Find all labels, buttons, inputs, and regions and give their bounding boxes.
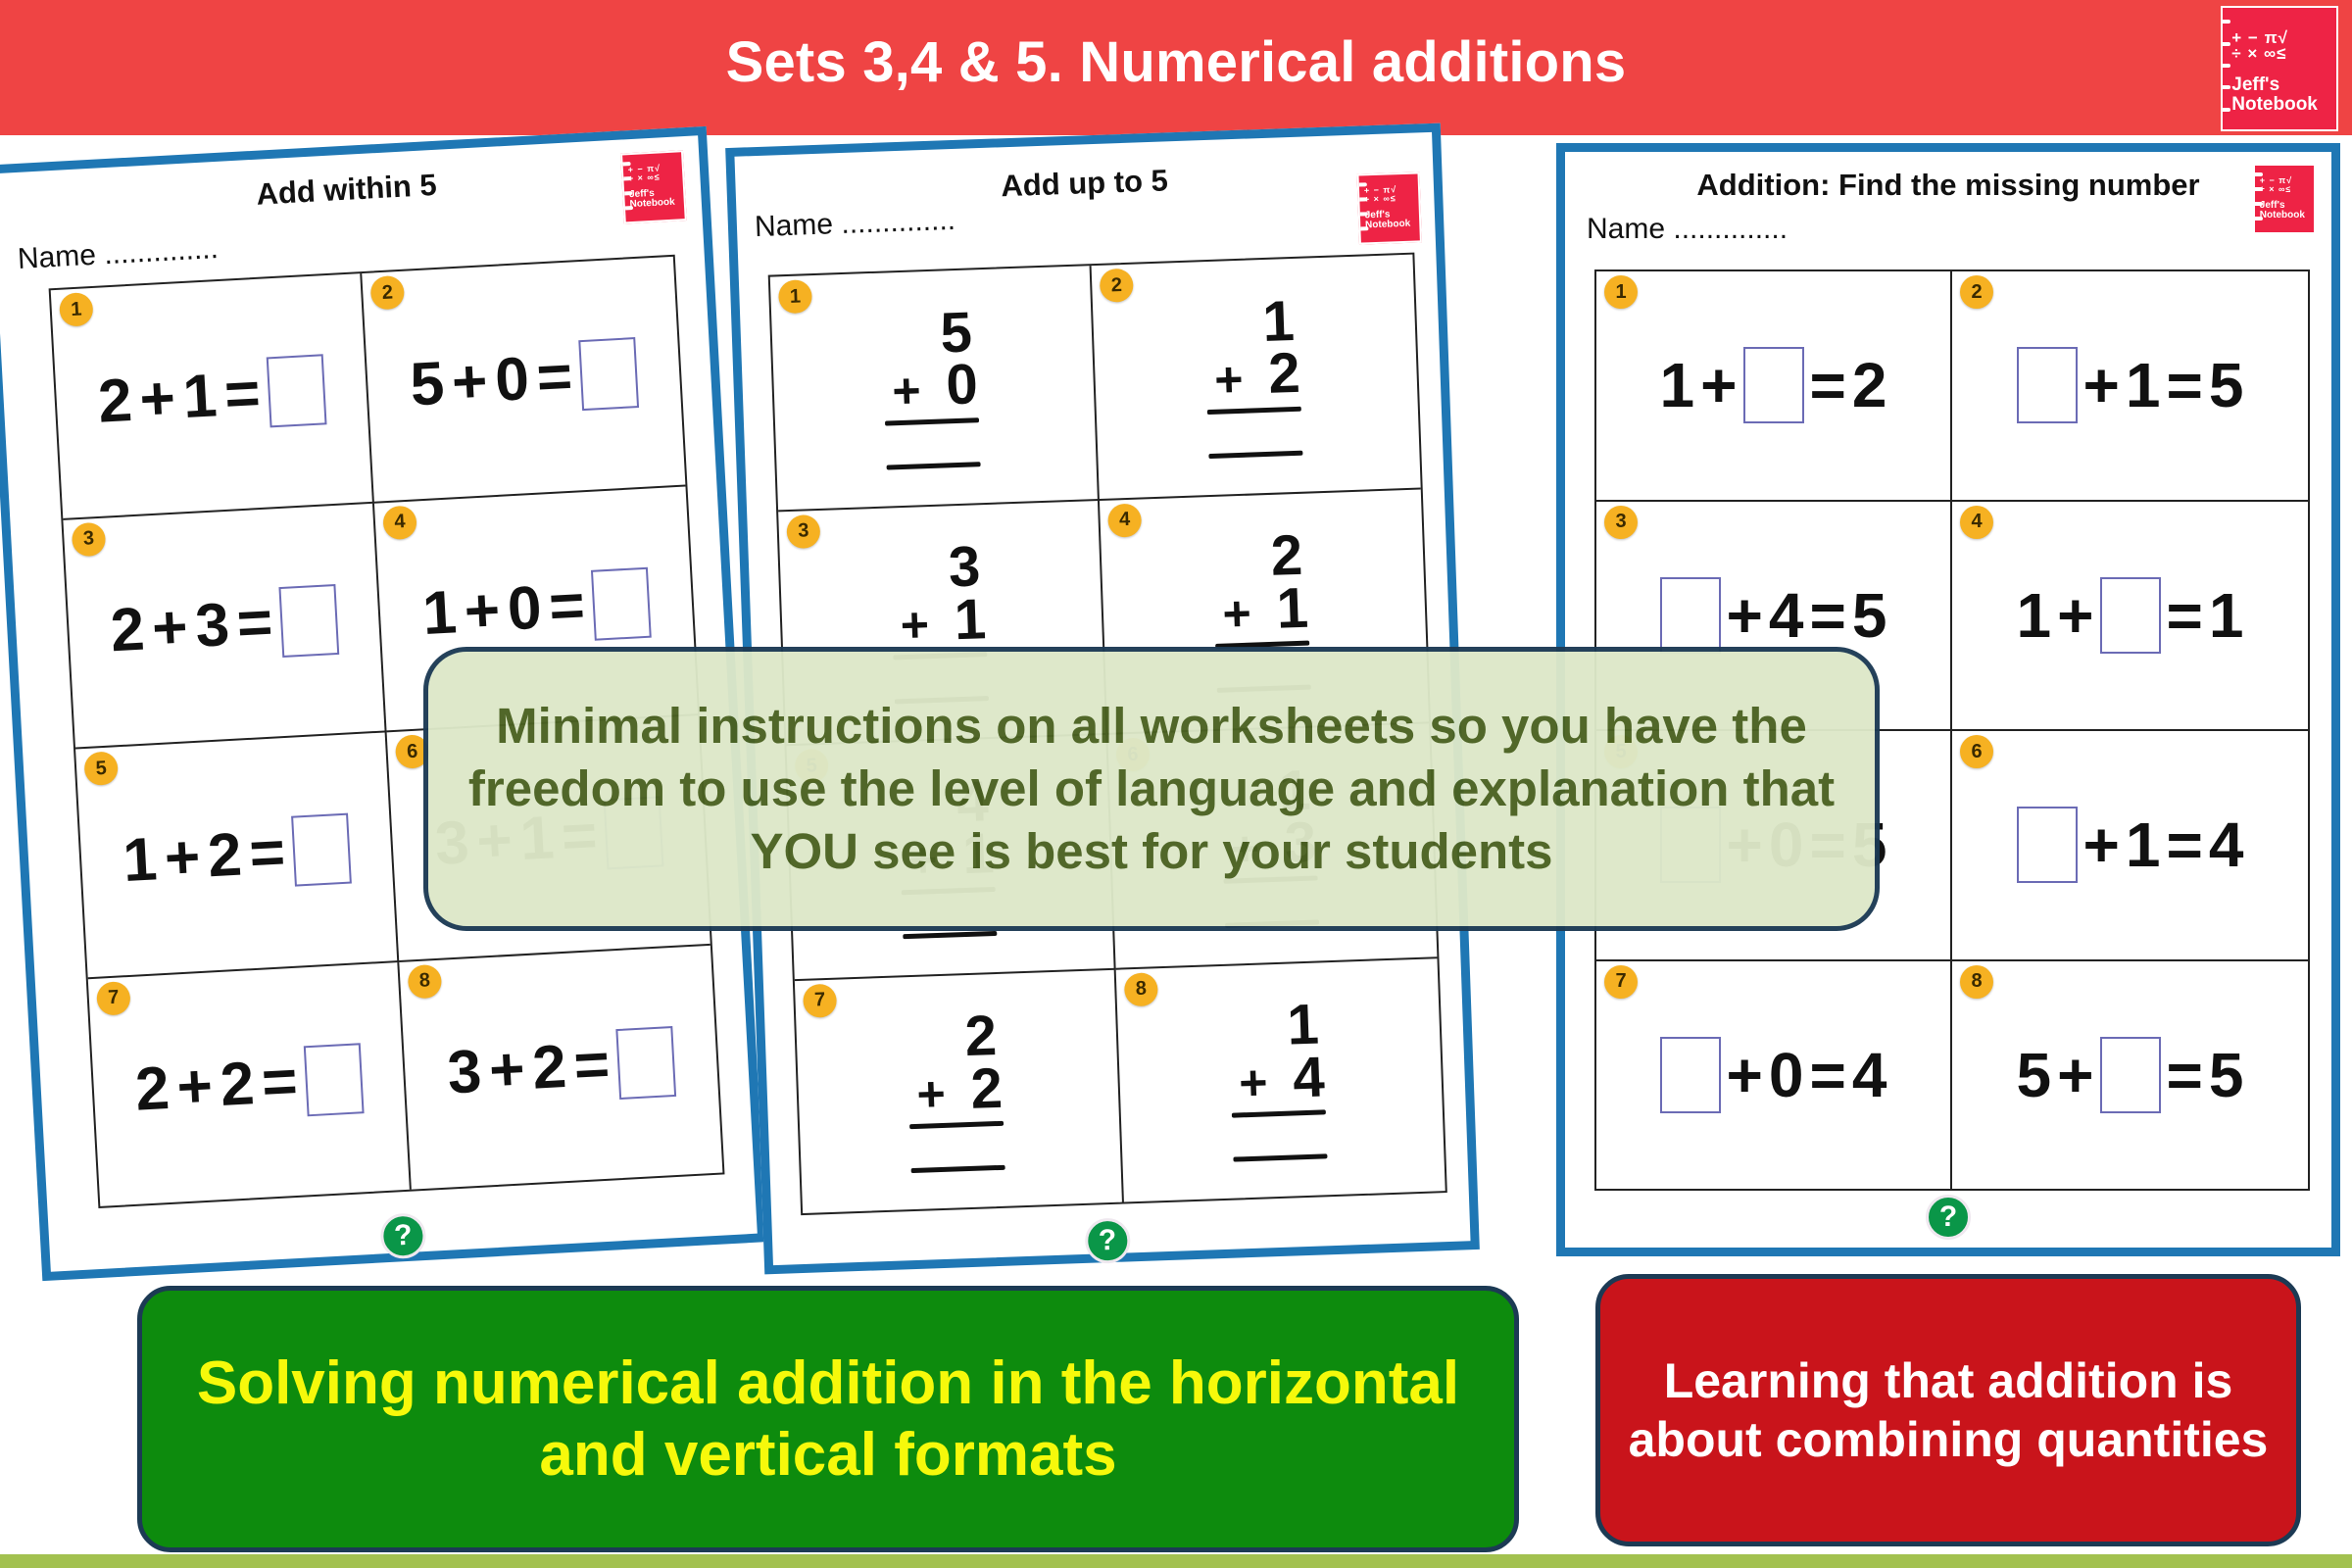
callout-text: Minimal instructions on all worksheets s…: [428, 695, 1875, 884]
name-field-label: Name ..............: [1587, 213, 1788, 246]
equals-sign: =: [1810, 349, 1846, 421]
problem-number-badge: 7: [803, 983, 837, 1017]
plus-sign: +: [1213, 356, 1244, 402]
operand-right: 2: [219, 1050, 256, 1121]
spiral-binding-icon: [2221, 8, 2229, 129]
problem-cell[interactable]: 7 2 + 2: [795, 969, 1124, 1213]
name-field-label: Name ..............: [17, 232, 220, 276]
problem-number-badge: 7: [96, 980, 131, 1015]
logo-brand-line-1: Jeff's: [2231, 74, 2279, 95]
operand-right: 0: [493, 344, 530, 416]
answer-rule: [903, 931, 997, 939]
plus-sign: +: [1222, 591, 1252, 637]
logo-brand-line-2: Notebook: [2260, 210, 2305, 220]
addend-bottom: 2: [970, 1062, 1004, 1115]
equals-sign: =: [535, 341, 574, 413]
problem-cell[interactable]: 3 2 + 3 =: [63, 503, 386, 749]
missing-number-box[interactable]: [2017, 347, 2078, 423]
operand-right: 2: [206, 819, 243, 891]
problem-cell[interactable]: 5 1 + 2 =: [75, 732, 399, 978]
operand-left: 1: [421, 578, 459, 650]
problem-number-badge: 8: [407, 963, 442, 999]
plus-sign: +: [1727, 1039, 1763, 1111]
problem-number-badge: 4: [382, 505, 417, 540]
equation: 5 + = 5: [2017, 1037, 2244, 1113]
addend-bottom-row: + 4: [1238, 1051, 1325, 1105]
logo-brand-name: Jeff's Notebook: [629, 187, 683, 210]
red-banner-text: Learning that addition is about combinin…: [1600, 1351, 2296, 1469]
operand-right: 1: [2126, 808, 2161, 881]
problem-number-badge: 1: [1604, 275, 1638, 309]
result-value: 5: [2209, 349, 2244, 421]
equation: 1 + = 2: [1660, 347, 1887, 423]
answer-box[interactable]: [303, 1043, 364, 1116]
plus-sign: +: [1700, 349, 1737, 421]
green-summary-banner: Solving numerical addition in the horizo…: [137, 1286, 1519, 1552]
plus-sign: +: [2083, 349, 2120, 421]
logo-math-symbols-row-2: ÷ × ∞≤: [628, 171, 678, 184]
help-badge-icon[interactable]: ?: [1084, 1217, 1131, 1264]
answer-rule: [887, 462, 981, 469]
problem-number-badge: 7: [1604, 965, 1638, 999]
equation: 1 + 0 =: [420, 566, 651, 649]
problem-number-badge: 3: [1604, 506, 1638, 539]
answer-box[interactable]: [291, 813, 352, 887]
problem-cell[interactable]: 2 + 1 = 5: [1952, 271, 2308, 502]
name-field-label: Name ..............: [754, 204, 955, 244]
plus-sign: +: [138, 363, 177, 434]
addend-bottom: 1: [1276, 581, 1309, 634]
problem-number-badge: 2: [369, 275, 405, 311]
vertical-sum: 1 + 2: [1203, 294, 1309, 458]
addend-bottom-row: + 2: [1213, 347, 1300, 402]
answer-box[interactable]: [578, 337, 639, 411]
sum-rule: [1232, 1109, 1326, 1117]
missing-number-box[interactable]: [1660, 577, 1721, 654]
answer-rule: [1233, 1153, 1327, 1161]
plus-sign: +: [1727, 579, 1763, 652]
worksheet-title: Add within 5: [0, 153, 701, 226]
problem-cell[interactable]: 2 1 + 2: [1092, 255, 1421, 501]
operand-left: 5: [2017, 1039, 2052, 1111]
problem-number-badge: 4: [1107, 503, 1142, 537]
problem-cell[interactable]: 4 1 + = 1: [1952, 502, 2308, 732]
problem-number-badge: 6: [1960, 735, 1993, 768]
problem-number-badge: 3: [786, 514, 820, 548]
logo-math-symbols-row-2: ÷ × ∞≤: [2231, 44, 2327, 64]
problem-number-badge: 1: [778, 279, 812, 314]
plus-sign: +: [916, 1071, 947, 1117]
problem-cell[interactable]: 6 + 1 = 4: [1952, 731, 2308, 961]
logo-math-symbols-row-1: + − π√: [2260, 175, 2309, 185]
addend-bottom-row: + 0: [891, 359, 978, 414]
operand-right: 1: [2126, 349, 2161, 421]
plus-sign: +: [487, 1035, 526, 1106]
problem-number-badge: 3: [72, 521, 107, 557]
plus-sign: +: [2057, 1039, 2093, 1111]
problem-cell[interactable]: 1 5 + 0: [770, 266, 1100, 512]
missing-number-box[interactable]: [1743, 347, 1804, 423]
operand-left: 3: [446, 1037, 483, 1108]
equation: + 1 = 4: [2017, 807, 2244, 883]
operand-left: 2: [109, 595, 146, 666]
addend-top: 1: [1261, 295, 1298, 349]
problem-number-badge: 1: [59, 292, 94, 327]
operand-left: 1: [2017, 579, 2052, 652]
addend-bottom-row: + 1: [1222, 581, 1309, 636]
jeffs-notebook-logo: + − π√ ÷ × ∞≤ Jeff's Notebook: [2253, 164, 2316, 234]
equation: 1 + = 1: [2017, 577, 2244, 654]
addend-bottom: 2: [1267, 347, 1300, 400]
jeffs-notebook-logo: + − π√ ÷ × ∞≤ Jeff's Notebook: [2221, 6, 2338, 131]
equals-sign: =: [572, 1030, 612, 1102]
worksheet-title: Add up to 5: [735, 154, 1434, 214]
problem-number-badge: 4: [1960, 506, 1993, 539]
logo-brand-line-2: Notebook: [1365, 219, 1410, 231]
answer-box[interactable]: [266, 355, 326, 428]
plus-sign: +: [900, 602, 930, 648]
answer-rule: [1208, 450, 1302, 458]
jeffs-notebook-logo: + − π√ ÷ × ∞≤ Jeff's Notebook: [620, 150, 687, 223]
logo-math-symbols-row-2: ÷ × ∞≤: [2260, 184, 2309, 194]
operand-right: 4: [1769, 579, 1804, 652]
operand-right: 3: [194, 590, 231, 661]
sum-rule: [909, 1121, 1004, 1129]
sum-rule: [1207, 406, 1301, 414]
equation: + 0 = 4: [1660, 1037, 1887, 1113]
answer-box[interactable]: [591, 566, 652, 640]
plus-sign: +: [892, 367, 922, 414]
result-value: 2: [1852, 349, 1887, 421]
addend-top: 3: [948, 541, 985, 595]
logo-math-symbols-row-2: ÷ × ∞≤: [1364, 193, 1414, 205]
vertical-sum: 1 + 4: [1228, 999, 1334, 1162]
addend-bottom: 4: [1292, 1051, 1325, 1103]
logo-brand-name: Jeff's Notebook: [1365, 210, 1419, 231]
problem-cell[interactable]: 8 1 + 4: [1116, 958, 1445, 1202]
problem-cell[interactable]: 1 1 + = 2: [1596, 271, 1952, 502]
page-title: Sets 3,4 & 5. Numerical additions: [0, 29, 2352, 95]
equals-sign: =: [248, 817, 287, 889]
equals-sign: =: [2167, 808, 2203, 881]
worksheet-title: Addition: Find the missing number: [1565, 168, 2331, 203]
addend-top: 2: [964, 1009, 1002, 1063]
result-value: 1: [2209, 579, 2244, 652]
equals-sign: =: [548, 571, 587, 643]
addend-top: 2: [1270, 529, 1307, 583]
addend-bottom: 0: [946, 359, 979, 412]
problem-number-badge: 8: [1124, 972, 1158, 1006]
help-badge-icon[interactable]: ?: [1926, 1195, 1971, 1240]
red-summary-banner: Learning that addition is about combinin…: [1595, 1274, 2301, 1546]
missing-number-box[interactable]: [2017, 807, 2078, 883]
plus-sign: +: [2057, 579, 2093, 652]
problem-cell[interactable]: 8 5 + = 5: [1952, 961, 2308, 1190]
result-value: 5: [1852, 579, 1887, 652]
operand-right: 0: [1769, 1039, 1804, 1111]
equals-sign: =: [1810, 1039, 1846, 1111]
equals-sign: =: [235, 588, 274, 660]
equation: + 1 = 5: [2017, 347, 2244, 423]
equation: 5 + 0 =: [409, 337, 639, 419]
plus-sign: +: [175, 1052, 215, 1123]
logo-brand-line-2: Notebook: [2231, 94, 2318, 115]
problem-number-badge: 5: [83, 751, 119, 786]
plus-sign: +: [463, 575, 502, 647]
problem-number-badge: 2: [1100, 269, 1134, 303]
equation: 2 + 3 =: [109, 584, 339, 666]
equation: 2 + 1 =: [96, 355, 326, 437]
problem-cell[interactable]: 7 + 0 = 4: [1596, 961, 1952, 1190]
problem-cell[interactable]: 2 5 + 0 =: [362, 257, 685, 503]
operand-left: 1: [122, 824, 159, 896]
missing-number-box[interactable]: [2100, 577, 2161, 654]
addend-top: 5: [940, 306, 977, 360]
equals-sign: =: [2167, 349, 2203, 421]
callout-box: Minimal instructions on all worksheets s…: [423, 647, 1880, 931]
equals-sign: =: [1810, 579, 1846, 652]
answer-box[interactable]: [615, 1026, 676, 1100]
operand-right: 1: [181, 361, 219, 432]
addend-bottom: 1: [954, 593, 987, 646]
plus-sign: +: [150, 592, 189, 663]
missing-number-box[interactable]: [2100, 1037, 2161, 1113]
logo-brand-line-2: Notebook: [629, 197, 675, 210]
result-value: 4: [2209, 808, 2244, 881]
equation: 1 + 2 =: [122, 813, 352, 896]
addend-bottom-row: + 1: [900, 593, 987, 648]
equation: 2 + 2 =: [133, 1043, 364, 1125]
help-badge-icon[interactable]: ?: [379, 1212, 426, 1259]
equation: 3 + 2 =: [446, 1026, 676, 1108]
addend-bottom-row: + 2: [915, 1062, 1003, 1117]
plus-sign: +: [2083, 808, 2120, 881]
plus-sign: +: [450, 346, 489, 417]
operand-left: 1: [1660, 349, 1695, 421]
equals-sign: =: [222, 359, 262, 430]
sum-rule: [885, 417, 979, 425]
equals-sign: =: [2167, 1039, 2203, 1111]
operand-right: 2: [530, 1032, 567, 1103]
equals-sign: =: [2167, 579, 2203, 652]
operand-left: 2: [96, 366, 133, 437]
bottom-accent-strip: [0, 1554, 2352, 1568]
operand-left: 5: [409, 348, 446, 419]
jeffs-notebook-logo: + − π√ ÷ × ∞≤ Jeff's Notebook: [1356, 171, 1421, 244]
plus-sign: +: [1239, 1059, 1269, 1105]
answer-box[interactable]: [278, 584, 339, 658]
green-banner-text: Solving numerical addition in the horizo…: [142, 1347, 1514, 1491]
missing-number-box[interactable]: [1660, 1037, 1721, 1113]
answer-rule: [911, 1165, 1005, 1173]
logo-brand-name: Jeff's Notebook: [2260, 201, 2313, 221]
result-value: 4: [1852, 1039, 1887, 1111]
vertical-sum: 5 + 0: [881, 306, 987, 469]
operand-left: 2: [133, 1053, 171, 1125]
vertical-sum: 2 + 2: [906, 1009, 1011, 1173]
problem-cell[interactable]: 1 2 + 1 =: [51, 273, 374, 519]
equation: + 4 = 5: [1660, 577, 1887, 654]
equals-sign: =: [260, 1047, 299, 1118]
problem-cell[interactable]: 7 2 + 2 =: [88, 962, 412, 1206]
addend-top: 1: [1287, 999, 1324, 1053]
problem-number-badge: 8: [1960, 965, 1993, 999]
logo-brand-name: Jeff's Notebook: [2231, 75, 2333, 114]
problem-cell[interactable]: 8 3 + 2 =: [399, 945, 722, 1189]
plus-sign: +: [163, 822, 202, 894]
problem-number-badge: 2: [1960, 275, 1993, 309]
result-value: 5: [2209, 1039, 2244, 1111]
operand-right: 0: [506, 573, 543, 645]
